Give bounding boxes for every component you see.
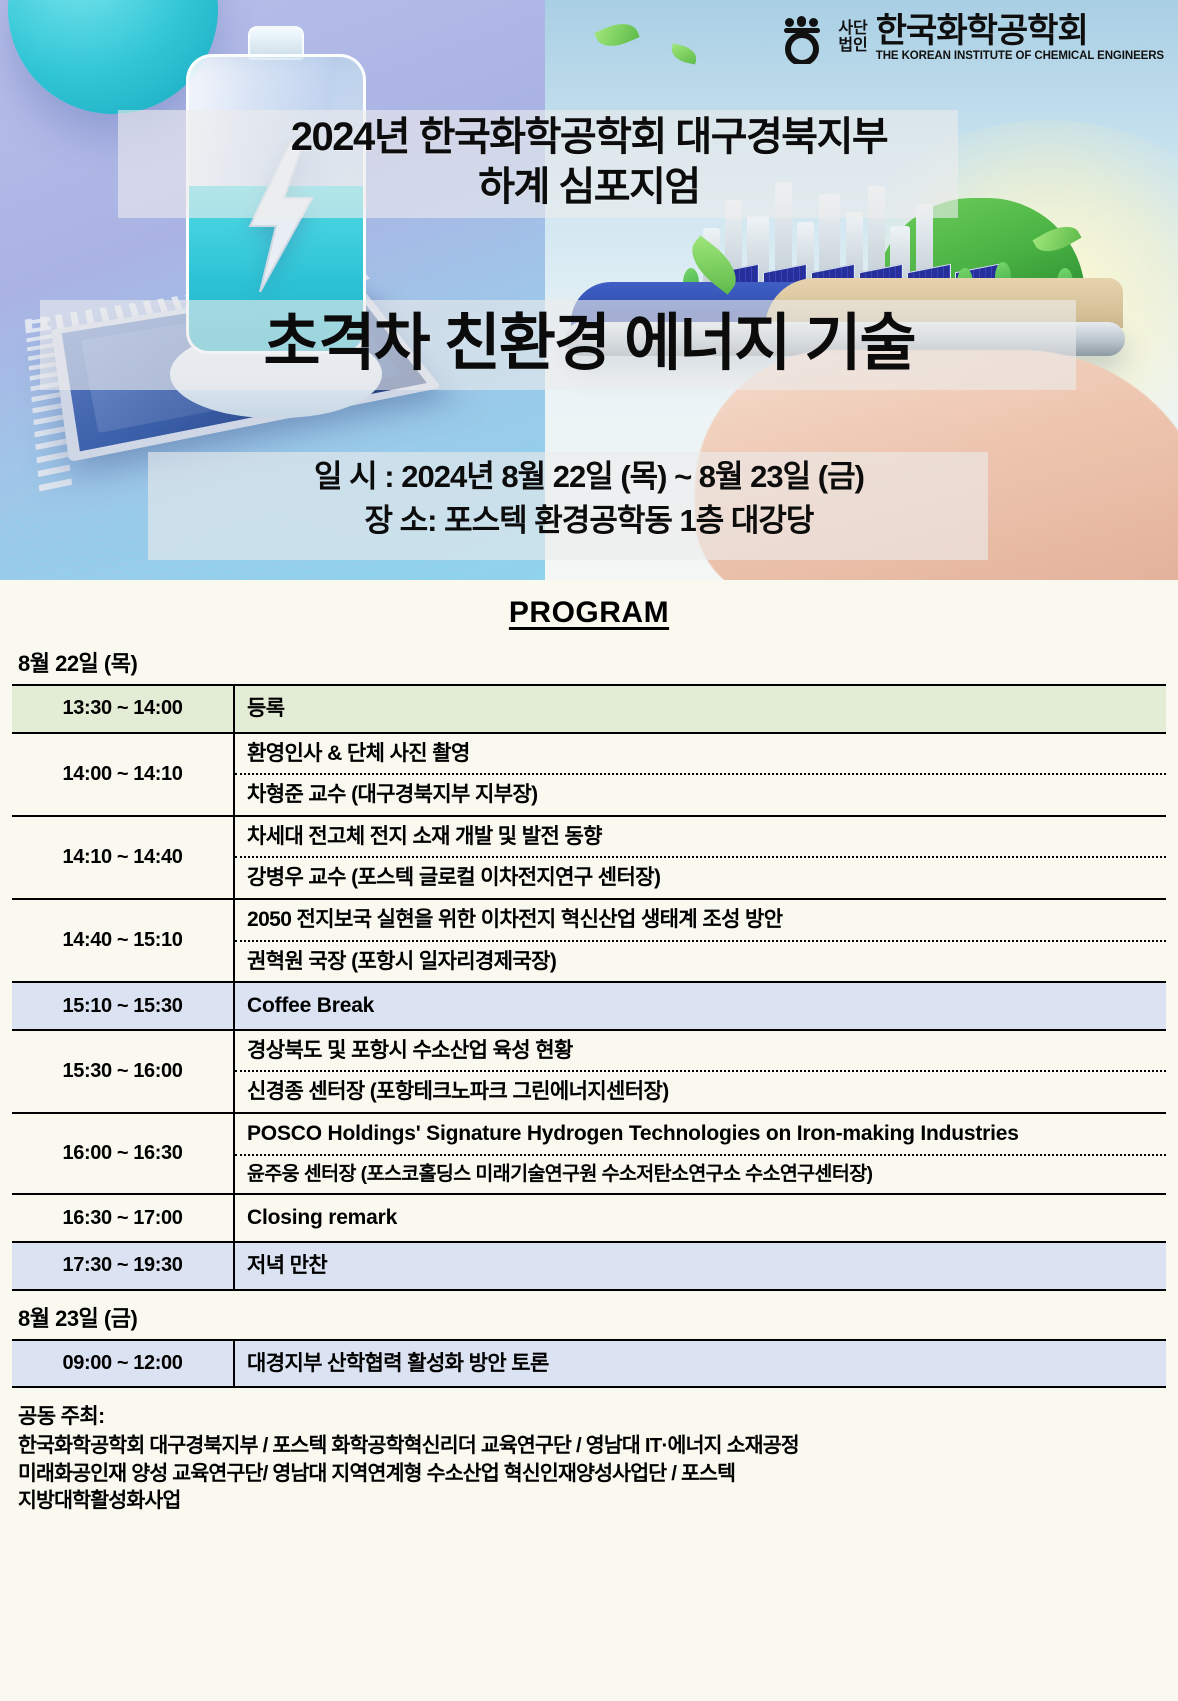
row-title: 환영인사 & 단체 사진 촬영 — [235, 734, 1166, 774]
row-title: Closing remark — [235, 1195, 1166, 1241]
poster-hero: 사단 법인 한국화학공학회 THE KOREAN INSTITUTE OF CH… — [0, 0, 1178, 580]
row-detail: 환영인사 & 단체 사진 촬영 차형준 교수 (대구경북지부 지부장) — [234, 733, 1166, 816]
row-time: 16:00 ~ 16:30 — [12, 1113, 234, 1194]
table-row: 14:40 ~ 15:10 2050 전지보국 실현을 위한 이차전지 혁신산업… — [12, 899, 1166, 982]
row-speaker: 신경종 센터장 (포항테크노파크 그린에너지센터장) — [235, 1070, 1166, 1112]
cohost-line-3: 지방대학활성화사업 — [18, 1487, 1166, 1514]
row-title: Coffee Break — [235, 983, 1166, 1029]
row-time: 09:00 ~ 12:00 — [12, 1340, 234, 1388]
poster-date-line: 일 시 : 2024년 8월 22일 (목) ~ 8월 23일 (금) — [0, 455, 1178, 499]
leaf-icon — [594, 17, 639, 53]
kiche-logo: 사단 법인 한국화학공학회 THE KOREAN INSTITUTE OF CH… — [782, 12, 1164, 64]
row-detail: 경상북도 및 포항시 수소산업 육성 현황 신경종 센터장 (포항테크노파크 그… — [234, 1030, 1166, 1113]
row-time: 15:10 ~ 15:30 — [12, 982, 234, 1030]
logo-sadan-beobin: 사단 법인 — [838, 21, 867, 55]
row-time: 17:30 ~ 19:30 — [12, 1242, 234, 1290]
kiche-emblem-icon — [782, 12, 830, 64]
row-detail: 저녁 만찬 — [234, 1242, 1166, 1290]
row-time: 14:10 ~ 14:40 — [12, 816, 234, 899]
table-row: 09:00 ~ 12:00 대경지부 산학협력 활성화 방안 토론 — [12, 1340, 1166, 1388]
poster-info: 일 시 : 2024년 8월 22일 (목) ~ 8월 23일 (금) 장 소:… — [0, 455, 1178, 543]
cohost-section: 공동 주최: 한국화학공학회 대구경북지부 / 포스텍 화학공학혁신리더 교육연… — [18, 1400, 1166, 1514]
schedule-table-day-1: 13:30 ~ 14:00 등록 14:00 ~ 14:10 환영인사 & 단체… — [12, 684, 1166, 1291]
table-row: 16:00 ~ 16:30 POSCO Holdings' Signature … — [12, 1113, 1166, 1194]
row-time: 16:30 ~ 17:00 — [12, 1194, 234, 1242]
row-detail: Coffee Break — [234, 982, 1166, 1030]
logo-korean-name: 한국화학공학회 — [876, 14, 1164, 48]
leaf-icon — [670, 43, 699, 64]
table-row: 16:30 ~ 17:00 Closing remark — [12, 1194, 1166, 1242]
poster-title-line-2: 하계 심포지엄 — [0, 162, 1178, 212]
day-label-1: 8월 22일 (목) — [18, 646, 1166, 678]
cohost-line-1: 한국화학공학회 대구경북지부 / 포스텍 화학공학혁신리더 교육연구단 / 영남… — [18, 1432, 1166, 1459]
row-title: 차세대 전고체 전지 소재 개발 및 발전 동향 — [235, 817, 1166, 857]
table-row: 17:30 ~ 19:30 저녁 만찬 — [12, 1242, 1166, 1290]
row-detail: POSCO Holdings' Signature Hydrogen Techn… — [234, 1113, 1166, 1194]
poster-subtitle: 초격차 친환경 에너지 기술 — [0, 302, 1178, 386]
logo-names: 한국화학공학회 THE KOREAN INSTITUTE OF CHEMICAL… — [876, 14, 1164, 62]
poster-title: 2024년 한국화학공학회 대구경북지부 하계 심포지엄 — [0, 112, 1178, 213]
row-speaker: 강병우 교수 (포스텍 글로컬 이차전지연구 센터장) — [235, 856, 1166, 898]
row-speaker: 윤주웅 센터장 (포스코홀딩스 미래기술연구원 수소저탄소연구소 수소연구센터장… — [235, 1154, 1166, 1194]
row-time: 15:30 ~ 16:00 — [12, 1030, 234, 1113]
row-title: 경상북도 및 포항시 수소산업 육성 현황 — [235, 1031, 1166, 1071]
cohost-title: 공동 주최: — [18, 1400, 1166, 1430]
program-section: PROGRAM 8월 22일 (목) 13:30 ~ 14:00 등록 14:0… — [0, 580, 1178, 1701]
poster-title-line-1: 2024년 한국화학공학회 대구경북지부 — [0, 112, 1178, 162]
program-heading: PROGRAM — [12, 580, 1166, 636]
day-label-2: 8월 23일 (금) — [18, 1301, 1166, 1333]
row-detail: 2050 전지보국 실현을 위한 이차전지 혁신산업 생태계 조성 방안 권혁원… — [234, 899, 1166, 982]
row-time: 14:40 ~ 15:10 — [12, 899, 234, 982]
row-time: 14:00 ~ 14:10 — [12, 733, 234, 816]
table-row: 15:30 ~ 16:00 경상북도 및 포항시 수소산업 육성 현황 신경종 … — [12, 1030, 1166, 1113]
table-row: 13:30 ~ 14:00 등록 — [12, 685, 1166, 733]
row-title: 등록 — [235, 686, 1166, 732]
row-detail: Closing remark — [234, 1194, 1166, 1242]
logo-english-name: THE KOREAN INSTITUTE OF CHEMICAL ENGINEE… — [876, 50, 1164, 62]
row-speaker: 권혁원 국장 (포항시 일자리경제국장) — [235, 940, 1166, 982]
table-row: 14:10 ~ 14:40 차세대 전고체 전지 소재 개발 및 발전 동향 강… — [12, 816, 1166, 899]
schedule-table-day-2: 09:00 ~ 12:00 대경지부 산학협력 활성화 방안 토론 — [12, 1339, 1166, 1389]
row-speaker: 차형준 교수 (대구경북지부 지부장) — [235, 773, 1166, 815]
poster-venue-line: 장 소: 포스텍 환경공학동 1층 대강당 — [0, 499, 1178, 543]
row-title: 2050 전지보국 실현을 위한 이차전지 혁신산업 생태계 조성 방안 — [235, 900, 1166, 940]
logo-sadan-line2: 법인 — [838, 38, 867, 55]
row-title: POSCO Holdings' Signature Hydrogen Techn… — [235, 1114, 1166, 1154]
row-title: 대경지부 산학협력 활성화 방안 토론 — [235, 1341, 1166, 1387]
row-detail: 차세대 전고체 전지 소재 개발 및 발전 동향 강병우 교수 (포스텍 글로컬… — [234, 816, 1166, 899]
row-detail: 대경지부 산학협력 활성화 방안 토론 — [234, 1340, 1166, 1388]
row-title: 저녁 만찬 — [235, 1243, 1166, 1289]
row-time: 13:30 ~ 14:00 — [12, 685, 234, 733]
table-row: 15:10 ~ 15:30 Coffee Break — [12, 982, 1166, 1030]
logo-sadan-line1: 사단 — [838, 21, 867, 38]
cohost-line-2: 미래화공인재 양성 교육연구단/ 영남대 지역연계형 수소산업 혁신인재양성사업… — [18, 1460, 1166, 1487]
row-detail: 등록 — [234, 685, 1166, 733]
table-row: 14:00 ~ 14:10 환영인사 & 단체 사진 촬영 차형준 교수 (대구… — [12, 733, 1166, 816]
